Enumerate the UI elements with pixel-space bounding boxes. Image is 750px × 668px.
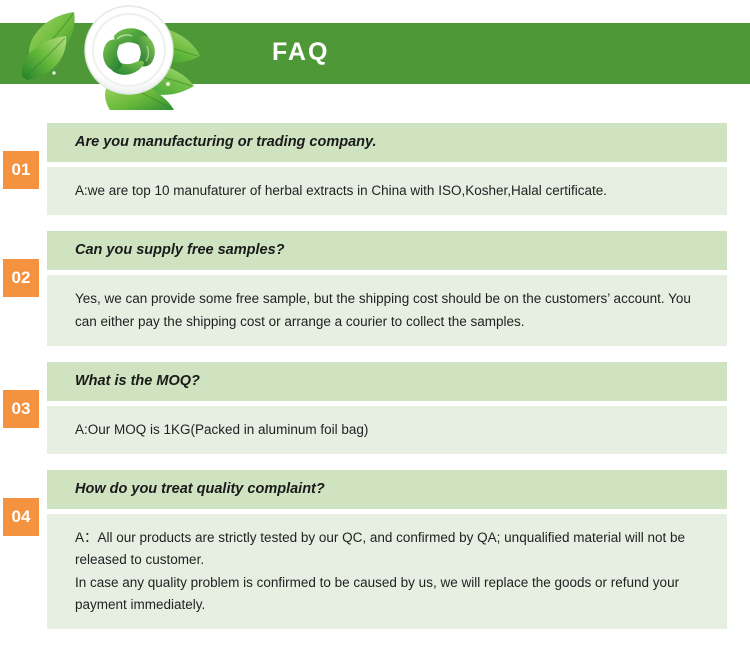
faq-question[interactable]: How do you treat quality complaint? xyxy=(47,470,727,509)
faq-number-badge: 04 xyxy=(3,498,39,536)
green-leaves-recycle-logo xyxy=(18,0,218,110)
faq-answer-line: Yes, we can provide some free sample, bu… xyxy=(75,288,709,333)
faq-list: 01 Are you manufacturing or trading comp… xyxy=(0,123,750,629)
page-title: FAQ xyxy=(272,38,329,67)
faq-answer: A：All our products are strictly tested b… xyxy=(47,514,727,629)
faq-answer-line: In case any quality problem is confirmed… xyxy=(75,572,709,617)
faq-answer: A:we are top 10 manufaturer of herbal ex… xyxy=(47,167,727,215)
faq-body: How do you treat quality complaint? A：Al… xyxy=(47,470,727,629)
faq-item: 03 What is the MOQ? A:Our MOQ is 1KG(Pac… xyxy=(0,362,750,454)
faq-answer-line: A:Our MOQ is 1KG(Packed in aluminum foil… xyxy=(75,419,709,441)
faq-question[interactable]: Can you supply free samples? xyxy=(47,231,727,270)
faq-number-badge: 01 xyxy=(3,151,39,189)
faq-question[interactable]: Are you manufacturing or trading company… xyxy=(47,123,727,162)
faq-answer-line: A:we are top 10 manufaturer of herbal ex… xyxy=(75,180,709,202)
faq-answer-line: A：All our products are strictly tested b… xyxy=(75,527,709,572)
logo-circle-badge xyxy=(85,6,173,94)
leaf-cluster-left xyxy=(22,12,75,80)
page-header: FAQ xyxy=(0,0,750,123)
faq-body: Can you supply free samples? Yes, we can… xyxy=(47,231,727,346)
faq-answer: A:Our MOQ is 1KG(Packed in aluminum foil… xyxy=(47,406,727,454)
faq-number-badge: 02 xyxy=(3,259,39,297)
faq-item: 02 Can you supply free samples? Yes, we … xyxy=(0,231,750,346)
faq-item: 04 How do you treat quality complaint? A… xyxy=(0,470,750,629)
faq-question[interactable]: What is the MOQ? xyxy=(47,362,727,401)
faq-answer: Yes, we can provide some free sample, bu… xyxy=(47,275,727,346)
faq-body: What is the MOQ? A:Our MOQ is 1KG(Packed… xyxy=(47,362,727,454)
faq-item: 01 Are you manufacturing or trading comp… xyxy=(0,123,750,215)
faq-body: Are you manufacturing or trading company… xyxy=(47,123,727,215)
faq-number-badge: 03 xyxy=(3,390,39,428)
